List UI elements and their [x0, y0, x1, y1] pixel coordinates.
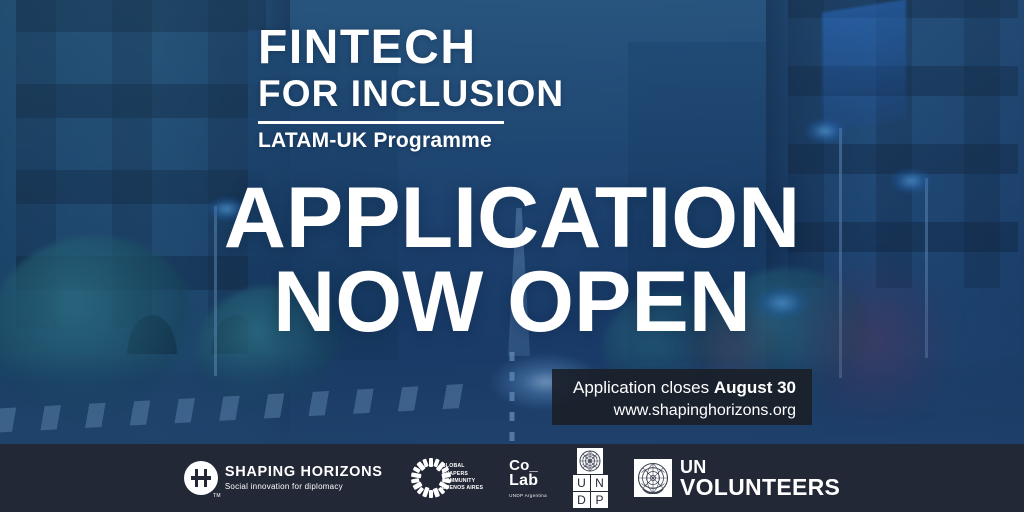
undp-letter-grid: U N D P	[573, 475, 608, 508]
shaping-horizons-mark-icon: TM	[184, 461, 218, 495]
logo-global-shapers[interactable]: GLOBAL SHAPERS COMMUNITY BUENOS AIRES	[409, 456, 483, 500]
logo-un-volunteers[interactable]: UN VOLUNTEERS	[634, 458, 840, 499]
deadline-callout-box: Application closes August 30 www.shaping…	[552, 369, 812, 425]
closes-prefix: Application closes	[573, 378, 714, 397]
un-volunteers-line2: VOLUNTEERS	[680, 476, 840, 499]
un-emblem-icon	[577, 448, 603, 474]
shaping-horizons-tagline: Social innovation for diplomacy	[225, 482, 383, 492]
trademark-symbol: TM	[213, 493, 221, 499]
programme-title-line2: FOR INCLUSION	[258, 75, 798, 114]
promotional-banner: FINTECH FOR INCLUSION LATAM-UK Programme…	[0, 0, 1024, 512]
co-lab-line1: Co_	[509, 458, 538, 474]
un-volunteers-line1: UN	[680, 458, 840, 476]
headline-line2: NOW OPEN	[0, 260, 1024, 344]
shaping-horizons-wordmark: SHAPING HORIZONS Social innovation for d…	[225, 465, 383, 492]
logo-shaping-horizons[interactable]: TM SHAPING HORIZONS Social innovation fo…	[184, 461, 383, 495]
partner-logo-bar: TM SHAPING HORIZONS Social innovation fo…	[0, 444, 1024, 512]
co-lab-subtitle: UNDP Argentina	[509, 493, 547, 498]
logo-undp[interactable]: U N D P	[573, 448, 608, 508]
programme-title-line1: FINTECH	[258, 24, 798, 73]
programme-subtitle: LATAM-UK Programme	[258, 129, 798, 153]
un-volunteers-wordmark: UN VOLUNTEERS	[680, 458, 840, 499]
application-closes-text: Application closes August 30	[566, 377, 796, 400]
un-emblem-icon	[634, 459, 672, 497]
title-divider-rule	[258, 121, 504, 124]
headline-line1: APPLICATION	[0, 176, 1024, 260]
global-shapers-ring-icon	[409, 456, 453, 500]
undp-letter-d: D	[573, 492, 590, 508]
undp-letter-u: U	[573, 475, 590, 491]
undp-letter-p: P	[591, 492, 608, 508]
co-lab-line2: Lab	[509, 473, 538, 490]
programme-title-block: FINTECH FOR INCLUSION LATAM-UK Programme	[258, 24, 798, 153]
website-url[interactable]: www.shapinghorizons.org	[566, 400, 796, 422]
shaping-horizons-name: SHAPING HORIZONS	[225, 465, 383, 480]
closes-date: August 30	[714, 378, 796, 397]
undp-letter-n: N	[591, 475, 608, 491]
main-headline: APPLICATION NOW OPEN	[0, 176, 1024, 345]
logo-co-lab[interactable]: Co_ Lab UNDP Argentina	[509, 458, 547, 498]
